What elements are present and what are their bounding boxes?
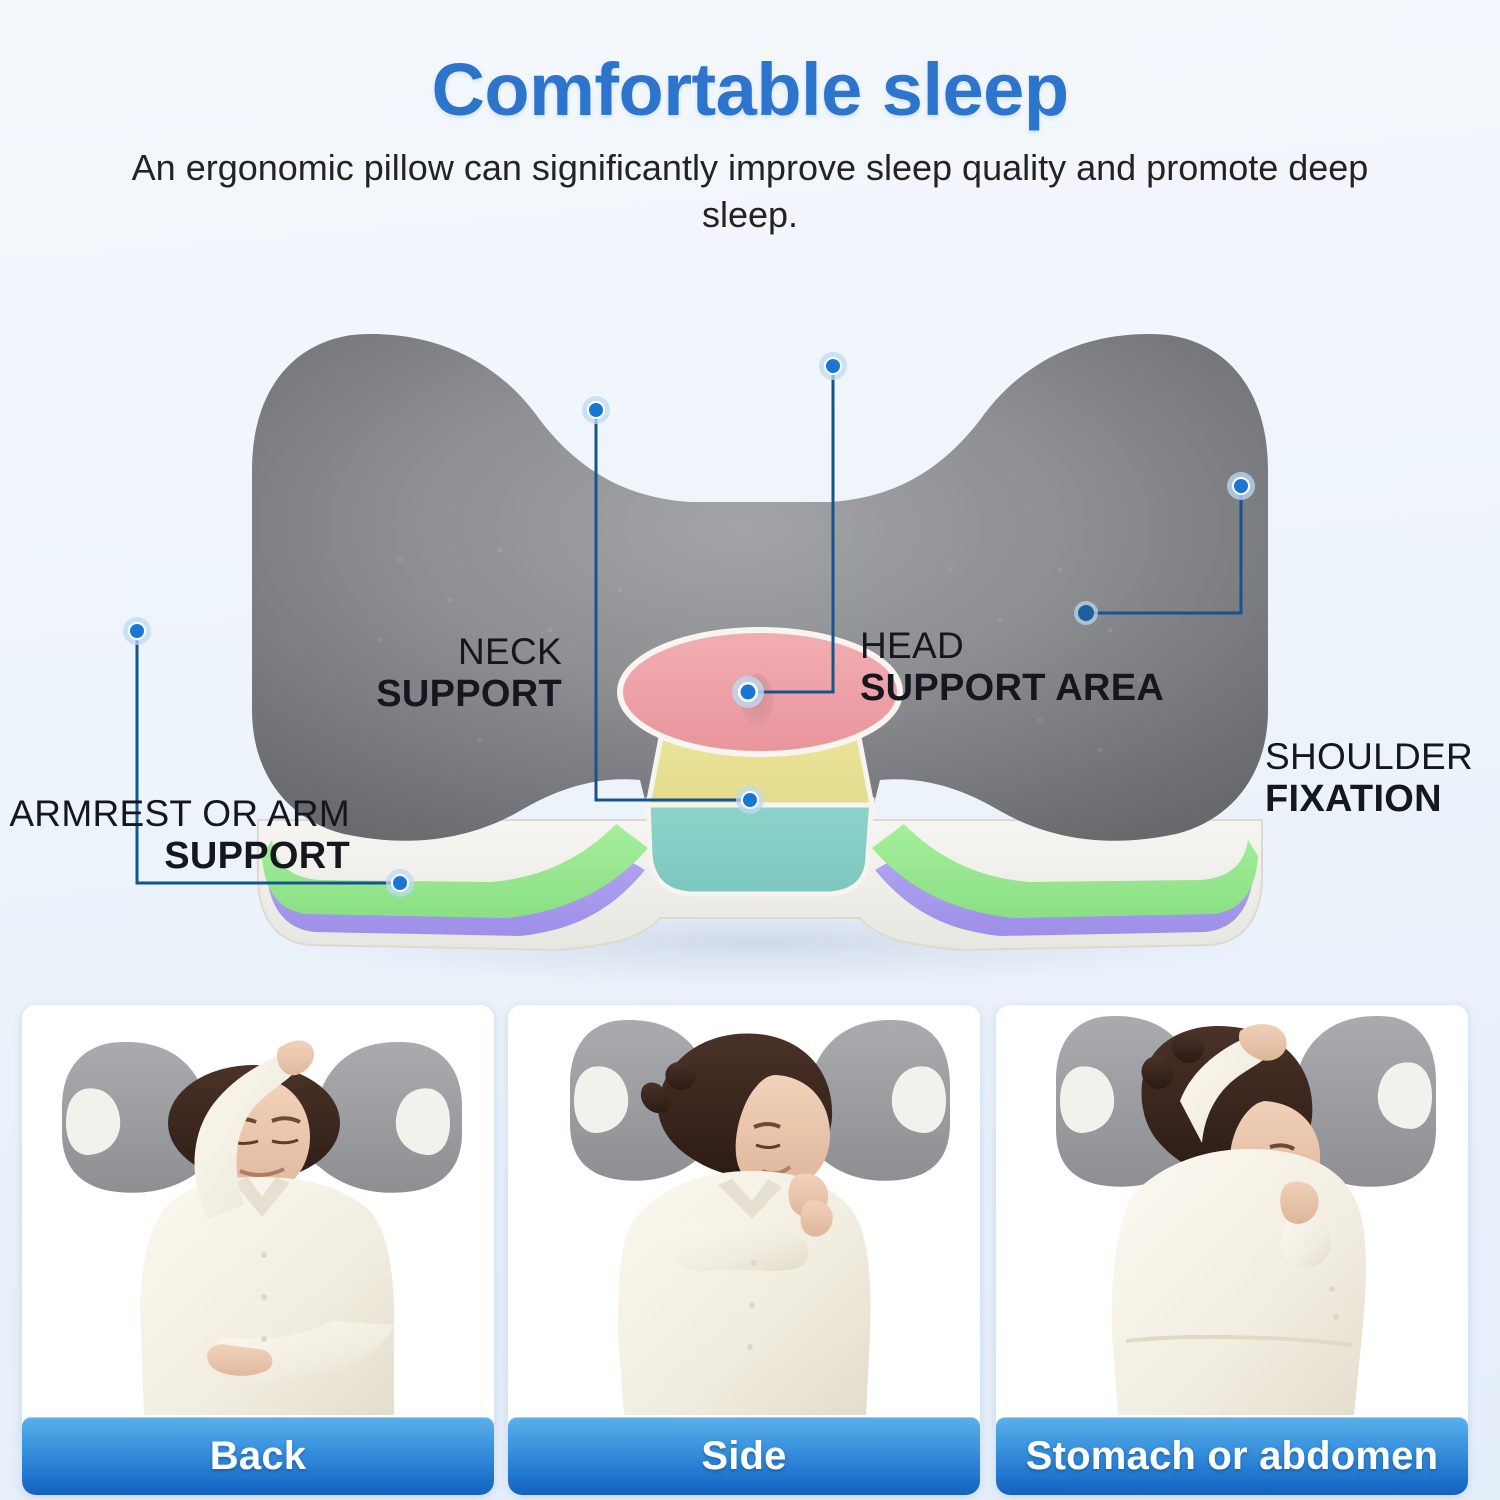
- photo-stomach-sleeping: [996, 1005, 1468, 1415]
- sleep-position-card-side[interactable]: Side: [508, 1005, 980, 1495]
- photo-side-sleeping: [508, 1005, 980, 1415]
- sleep-position-card-stomach[interactable]: Stomach or abdomen: [996, 1005, 1468, 1495]
- pillow-diagram: CERVICAL SUPPORT ARMREST OR ARM SUPPORT …: [0, 300, 1500, 1000]
- callout-head-line2: SUPPORT AREA: [860, 667, 1280, 710]
- callout-head-line1: HEAD: [860, 625, 1280, 667]
- callout-head-support-area: HEAD SUPPORT AREA: [860, 625, 1280, 710]
- header: Comfortable sleep An ergonomic pillow ca…: [0, 0, 1500, 239]
- cervical-support-zone: [648, 800, 872, 894]
- callout-shoulder-line1: SHOULDER: [1265, 736, 1500, 778]
- callout-shoulder-line2: FIXATION: [1265, 778, 1500, 821]
- sleep-position-card-back[interactable]: Back: [22, 1005, 494, 1495]
- sleep-position-cards: Back: [0, 1005, 1500, 1500]
- photo-back-sleeping: [22, 1005, 494, 1415]
- card-label-back: Back: [22, 1417, 494, 1495]
- callout-neck-support: NECK SUPPORT: [330, 631, 562, 716]
- callout-neck-line1: NECK: [330, 631, 562, 673]
- card-label-stomach: Stomach or abdomen: [996, 1417, 1468, 1495]
- callout-neck-line2: SUPPORT: [330, 673, 562, 716]
- page-subtitle: An ergonomic pillow can significantly im…: [100, 145, 1400, 239]
- page-title: Comfortable sleep: [0, 0, 1500, 127]
- card-label-side: Side: [508, 1417, 980, 1495]
- callout-shoulder-fixation: SHOULDER FIXATION: [1265, 736, 1500, 821]
- callout-armrest-line1: ARMREST OR ARM: [0, 793, 350, 835]
- callout-armrest-support: ARMREST OR ARM SUPPORT: [0, 793, 350, 878]
- callout-armrest-line2: SUPPORT: [0, 835, 350, 878]
